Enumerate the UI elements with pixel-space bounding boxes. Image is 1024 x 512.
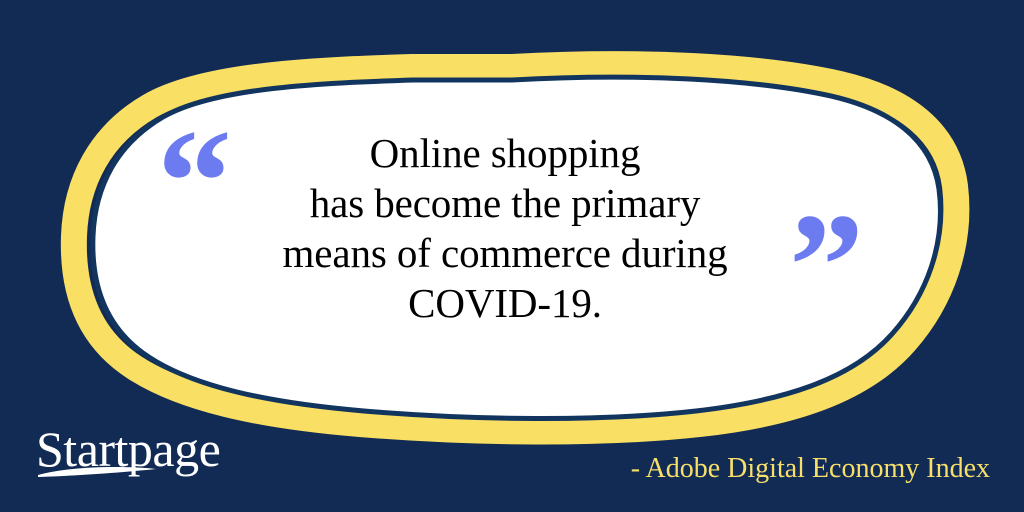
logo-swoosh-underline — [37, 464, 157, 478]
quote-line-2: has become the primary — [205, 178, 805, 228]
quote-line-4: COVID-19. — [205, 278, 805, 328]
closing-quote-icon: ” — [789, 191, 864, 341]
attribution-source: - Adobe Digital Economy Index — [631, 452, 990, 486]
quote-card: “ Online shopping has become the primary… — [0, 0, 1024, 512]
quote-line-1: Online shopping — [205, 128, 805, 178]
quote-line-3: means of commerce during — [205, 228, 805, 278]
quote-text: Online shopping has become the primary m… — [205, 128, 805, 328]
startpage-logo[interactable]: Startpage — [36, 420, 266, 486]
